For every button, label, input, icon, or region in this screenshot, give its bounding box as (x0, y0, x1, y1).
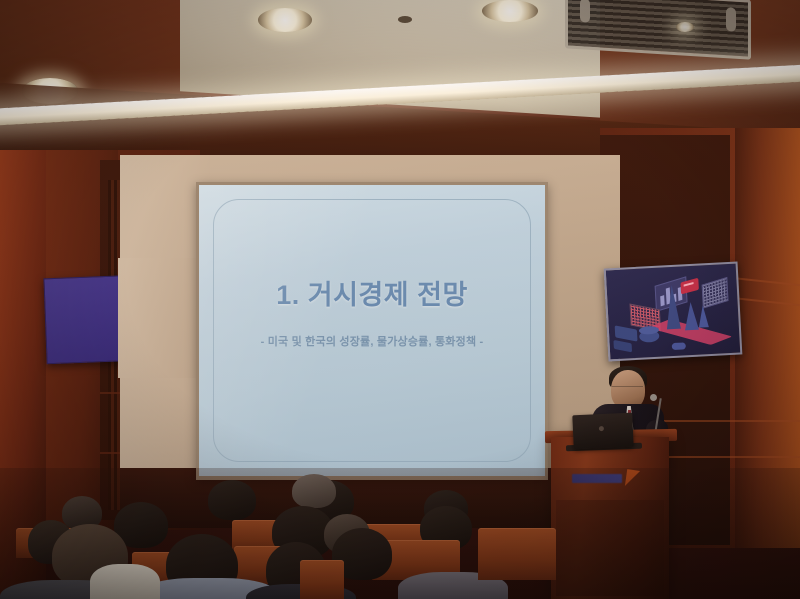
vent-tab-right (726, 7, 736, 32)
laptop (572, 413, 633, 450)
vent-tab-left (580, 0, 590, 23)
ceiling-downlight (258, 8, 312, 32)
ceiling-downlight (676, 22, 694, 32)
audience-shoulders (90, 564, 160, 599)
iso-cone (684, 302, 699, 331)
projection-screen: 1. 거시경제 전망 - 미국 및 한국의 성장률, 물가상승률, 통화정책 - (199, 185, 545, 476)
microphone-icon (650, 394, 657, 401)
slide-border (213, 199, 531, 462)
audience-seat (478, 528, 556, 580)
iso-pill (672, 342, 686, 350)
audience-head (292, 474, 336, 508)
ceiling-downlight (482, 0, 538, 22)
slide-title: 1. 거시경제 전망 (199, 273, 545, 312)
iso-card (613, 340, 632, 353)
iso-grid-panel (702, 277, 729, 309)
iso-cone (698, 305, 709, 327)
auditorium-presentation-photo: 2 제 1. 거시경제 전망 - 미국 및 한국의 성장률, 물가상승률, 통화… (0, 0, 800, 599)
audience-head (208, 480, 256, 520)
audience-seat (300, 560, 344, 599)
speaker-glasses-icon (612, 386, 643, 394)
audience (0, 468, 800, 599)
iso-card (615, 325, 638, 341)
side-display-right (604, 262, 743, 362)
slide-subtitle: - 미국 및 한국의 성장률, 물가상승률, 통화정책 - (199, 333, 545, 349)
ceiling-speaker-grille (398, 16, 412, 23)
iso-cone (665, 285, 681, 330)
